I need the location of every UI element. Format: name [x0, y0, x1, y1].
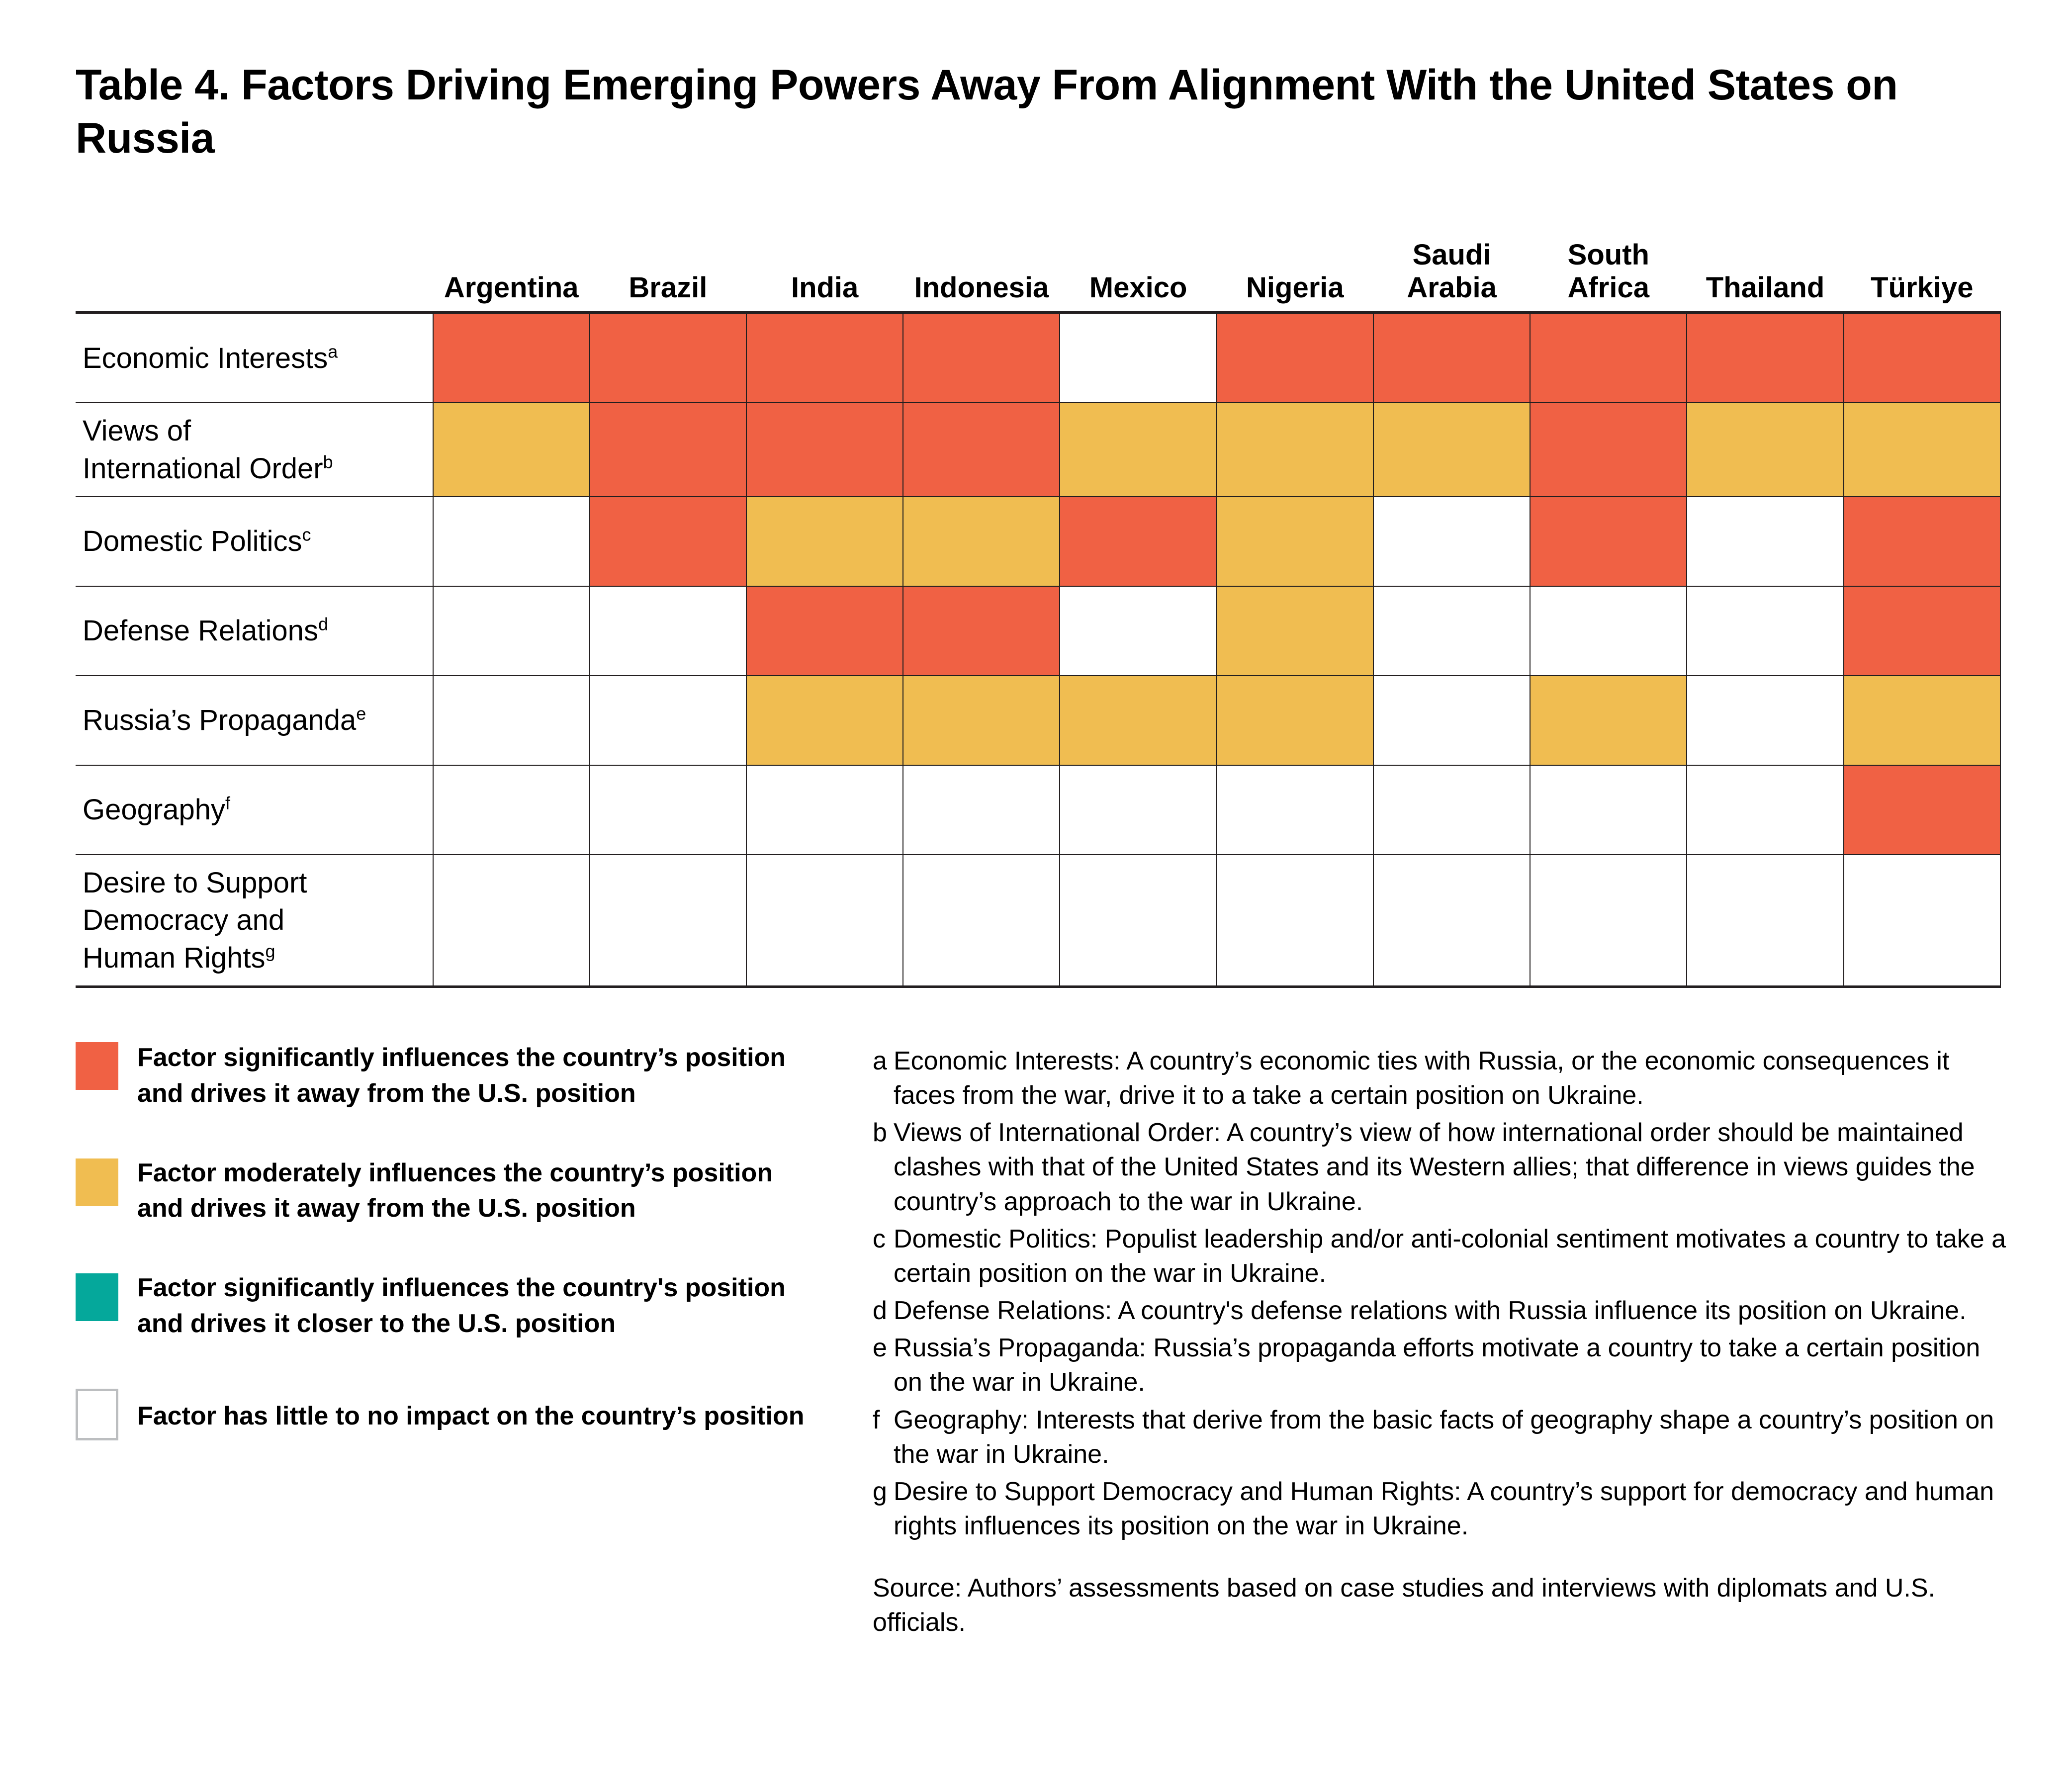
row-label-views-ofinternational-order: Views of International Orderb	[76, 403, 433, 497]
footnote-letter: d	[873, 1294, 894, 1328]
column-header-indonesia: Indonesia	[903, 239, 1060, 313]
footnote: eRussia’s Propaganda: Russia’s propagand…	[873, 1331, 2011, 1400]
matrix-cell	[1687, 676, 1843, 765]
column-header-saudi-arabia: Saudi Arabia	[1373, 239, 1530, 313]
matrix-cell	[903, 676, 1060, 765]
footnote-marker: f	[225, 793, 230, 813]
matrix-cell	[1217, 855, 1373, 987]
footnote: aEconomic Interests: A country’s economi…	[873, 1044, 2011, 1113]
matrix-cell	[1373, 855, 1530, 987]
footnote: bViews of International Order: A country…	[873, 1116, 2011, 1219]
matrix-cell	[903, 765, 1060, 855]
footnote-marker: e	[356, 704, 366, 724]
matrix-cell	[1530, 855, 1687, 987]
matrix-cell	[746, 313, 903, 403]
matrix-cell	[746, 676, 903, 765]
matrix-cell	[1530, 676, 1687, 765]
matrix-cell	[1844, 313, 2000, 403]
row-label-text: Views of International Order	[83, 415, 323, 484]
footnote-text: Geography: Interests that derive from th…	[894, 1403, 2011, 1472]
matrix-cell	[1844, 586, 2000, 676]
matrix-cell	[590, 403, 746, 497]
matrix-cell	[1373, 313, 1530, 403]
matrix-cell	[1687, 313, 1843, 403]
legend-swatch	[76, 1042, 118, 1090]
table-row: Domestic Politicsc	[76, 497, 2000, 586]
footnote-marker: d	[318, 614, 328, 634]
row-label-text: Russia’s Propaganda	[83, 704, 356, 736]
table-row: Views of International Orderb	[76, 403, 2000, 497]
matrix-cell	[903, 403, 1060, 497]
matrix-cell	[903, 855, 1060, 987]
matrix-cell	[1060, 313, 1216, 403]
row-label-domestic-politics: Domestic Politicsc	[76, 497, 433, 586]
row-label-text: Economic Interests	[83, 342, 328, 374]
footnote-text: Russia’s Propaganda: Russia’s propaganda…	[894, 1331, 2011, 1400]
matrix-cell	[1060, 765, 1216, 855]
matrix-cell	[903, 586, 1060, 676]
footnote-text: Domestic Politics: Populist leadership a…	[894, 1222, 2011, 1291]
footnote-letter: b	[873, 1116, 894, 1219]
table-head: ArgentinaBrazilIndiaIndonesiaMexicoNiger…	[76, 239, 2000, 313]
table-row: Desire to Support Democracy and Human Ri…	[76, 855, 2000, 987]
matrix-cell	[1844, 676, 2000, 765]
legend: Factor significantly influences the coun…	[76, 1039, 851, 1440]
footnote-letter: f	[873, 1403, 894, 1472]
matrix-cell	[590, 497, 746, 586]
matrix-cell	[1530, 313, 1687, 403]
matrix-cell	[1060, 855, 1216, 987]
footnote-text: Desire to Support Democracy and Human Ri…	[894, 1475, 2011, 1543]
footnote-letter: a	[873, 1044, 894, 1113]
matrix-cell	[590, 676, 746, 765]
matrix-cell	[746, 855, 903, 987]
column-header-argentina: Argentina	[433, 239, 590, 313]
matrix-cell	[590, 765, 746, 855]
matrix-cell	[1844, 855, 2000, 987]
row-label-economic-interests: Economic Interestsa	[76, 313, 433, 403]
footnote: cDomestic Politics: Populist leadership …	[873, 1222, 2011, 1291]
matrix-cell	[590, 855, 746, 987]
matrix-cell	[1373, 676, 1530, 765]
page-title: Table 4. Factors Driving Emerging Powers…	[76, 59, 1925, 165]
matrix-cell	[433, 855, 590, 987]
matrix-cell	[903, 313, 1060, 403]
table-row: Economic Interestsa	[76, 313, 2000, 403]
matrix-cell	[1530, 586, 1687, 676]
matrix-cell	[1687, 855, 1843, 987]
matrix-cell	[1373, 586, 1530, 676]
legend-label: Factor moderately influences the country…	[137, 1156, 773, 1227]
matrix-cell	[746, 403, 903, 497]
column-header-türkiye: Türkiye	[1844, 239, 2000, 313]
matrix-cell	[433, 403, 590, 497]
matrix-cell	[746, 765, 903, 855]
matrix-cell	[1687, 586, 1843, 676]
matrix-cell	[590, 586, 746, 676]
column-header-brazil: Brazil	[590, 239, 746, 313]
matrix-cell	[746, 497, 903, 586]
matrix-cell	[1217, 403, 1373, 497]
table-row: Geographyf	[76, 765, 2000, 855]
footnote-marker: b	[323, 451, 333, 472]
matrix-cell	[1844, 497, 2000, 586]
matrix: ArgentinaBrazilIndiaIndonesiaMexicoNiger…	[76, 239, 2001, 988]
matrix-cell	[903, 497, 1060, 586]
matrix-cell	[1217, 676, 1373, 765]
source-line: Source: Authors’ assessments based on ca…	[873, 1571, 2011, 1640]
row-label-text: Geography	[83, 794, 225, 826]
footnote: gDesire to Support Democracy and Human R…	[873, 1475, 2011, 1543]
footnote: fGeography: Interests that derive from t…	[873, 1403, 2011, 1472]
matrix-cell	[1217, 765, 1373, 855]
table-row: Defense Relationsd	[76, 586, 2000, 676]
row-label-defense-relations: Defense Relationsd	[76, 586, 433, 676]
row-label-geography: Geographyf	[76, 765, 433, 855]
matrix-cell	[433, 497, 590, 586]
matrix-cell	[746, 586, 903, 676]
matrix-cell	[433, 586, 590, 676]
footnote-letter: g	[873, 1475, 894, 1543]
matrix-cell	[1217, 313, 1373, 403]
header-row: ArgentinaBrazilIndiaIndonesiaMexicoNiger…	[76, 239, 2000, 313]
footnote-marker: a	[328, 341, 338, 361]
matrix-cell	[590, 313, 746, 403]
row-label-text: Domestic Politics	[83, 525, 302, 557]
matrix-cell	[433, 765, 590, 855]
matrix-cell	[1217, 497, 1373, 586]
column-header-india: India	[746, 239, 903, 313]
legend-item: Factor significantly influences the coun…	[76, 1270, 851, 1342]
row-label-text: Defense Relations	[83, 615, 318, 647]
matrix-cell	[1530, 403, 1687, 497]
legend-swatch	[76, 1273, 118, 1321]
table-page: Table 4. Factors Driving Emerging Powers…	[0, 0, 2072, 1781]
matrix-cell	[1373, 497, 1530, 586]
footnote: dDefense Relations: A country's defense …	[873, 1294, 2011, 1328]
corner-cell	[76, 239, 433, 313]
row-label-russias-propaganda: Russia’s Propagandae	[76, 676, 433, 765]
legend-item: Factor significantly influences the coun…	[76, 1039, 851, 1112]
footnote-letter: e	[873, 1331, 894, 1400]
matrix-cell	[1530, 497, 1687, 586]
table-body: Economic InterestsaViews of Internationa…	[76, 313, 2000, 987]
footnotes: aEconomic Interests: A country’s economi…	[873, 1044, 2011, 1640]
footnote-letter: c	[873, 1222, 894, 1291]
matrix-cell	[1060, 403, 1216, 497]
row-label-desire-to-supportdemocracy-andhuman-rights: Desire to Support Democracy and Human Ri…	[76, 855, 433, 987]
matrix-cell	[1844, 765, 2000, 855]
legend-label: Factor significantly influences the coun…	[137, 1270, 786, 1342]
matrix-cell	[1060, 586, 1216, 676]
column-header-south-africa: South Africa	[1530, 239, 1687, 313]
matrix-cell	[1687, 765, 1843, 855]
legend-item: Factor moderately influences the country…	[76, 1156, 851, 1227]
matrix-cell	[1373, 403, 1530, 497]
legend-swatch	[76, 1389, 118, 1440]
matrix-cell	[1687, 403, 1843, 497]
matrix-cell	[433, 313, 590, 403]
legend-swatch	[76, 1158, 118, 1206]
legend-item: Factor has little to no impact on the co…	[76, 1386, 851, 1440]
footnote-marker: c	[302, 525, 311, 545]
matrix-cell	[1530, 765, 1687, 855]
column-header-mexico: Mexico	[1060, 239, 1216, 313]
footnote-text: Economic Interests: A country’s economic…	[894, 1044, 2011, 1113]
matrix-cell	[1060, 676, 1216, 765]
legend-label: Factor significantly influences the coun…	[137, 1039, 786, 1112]
column-header-nigeria: Nigeria	[1217, 239, 1373, 313]
footnote-text: Defense Relations: A country's defense r…	[894, 1294, 2011, 1328]
matrix-cell	[1687, 497, 1843, 586]
factors-matrix-table: ArgentinaBrazilIndiaIndonesiaMexicoNiger…	[76, 239, 2001, 988]
table-row: Russia’s Propagandae	[76, 676, 2000, 765]
matrix-cell	[1844, 403, 2000, 497]
footnote-text: Views of International Order: A country’…	[894, 1116, 2011, 1219]
legend-label: Factor has little to no impact on the co…	[137, 1386, 805, 1434]
column-header-thailand: Thailand	[1687, 239, 1843, 313]
footnote-marker: g	[265, 941, 275, 961]
matrix-cell	[433, 676, 590, 765]
matrix-cell	[1217, 586, 1373, 676]
matrix-cell	[1060, 497, 1216, 586]
matrix-cell	[1373, 765, 1530, 855]
